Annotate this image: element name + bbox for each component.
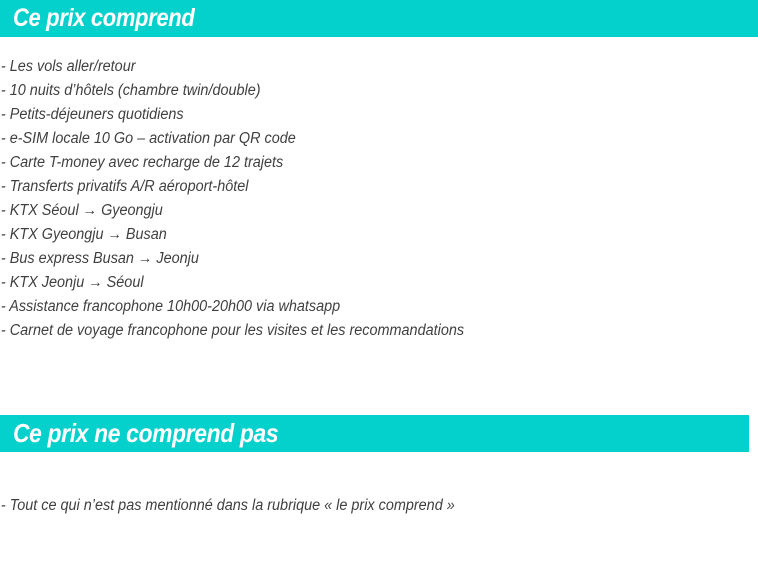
list-item: - Les vols aller/retour [0, 55, 705, 79]
list-item: - Transferts privatifs A/R aéroport-hôte… [0, 175, 705, 199]
list-item: - e-SIM locale 10 Go – activation par QR… [0, 127, 705, 151]
section-header-excluded: Ce prix ne comprend pas [0, 415, 749, 452]
list-item: - 10 nuits d’hôtels (chambre twin/double… [0, 79, 705, 103]
list-item: - Carnet de voyage francophone pour les … [0, 319, 705, 343]
list-item: - Bus express Busan → Jeonju [0, 247, 705, 271]
list-item: - KTX Jeonju → Séoul [0, 271, 705, 295]
section-header-included: Ce prix comprend [0, 0, 758, 37]
exclusions-list: - Tout ce qui n’est pas mentionné dans l… [0, 494, 758, 518]
list-item: - KTX Séoul → Gyeongju [0, 199, 705, 223]
inclusions-list: - Les vols aller/retour - 10 nuits d’hôt… [0, 55, 758, 343]
document-page: Ce prix comprend - Les vols aller/retour… [0, 0, 758, 572]
list-item: - Assistance francophone 10h00-20h00 via… [0, 295, 705, 319]
section-heading-excluded: Ce prix ne comprend pas [13, 420, 278, 446]
list-item: - Tout ce qui n’est pas mentionné dans l… [0, 494, 705, 518]
list-item: - Carte T-money avec recharge de 12 traj… [0, 151, 705, 175]
list-item: - Petits-déjeuners quotidiens [0, 103, 705, 127]
list-item: - KTX Gyeongju → Busan [0, 223, 705, 247]
section-heading-included: Ce prix comprend [13, 6, 194, 31]
